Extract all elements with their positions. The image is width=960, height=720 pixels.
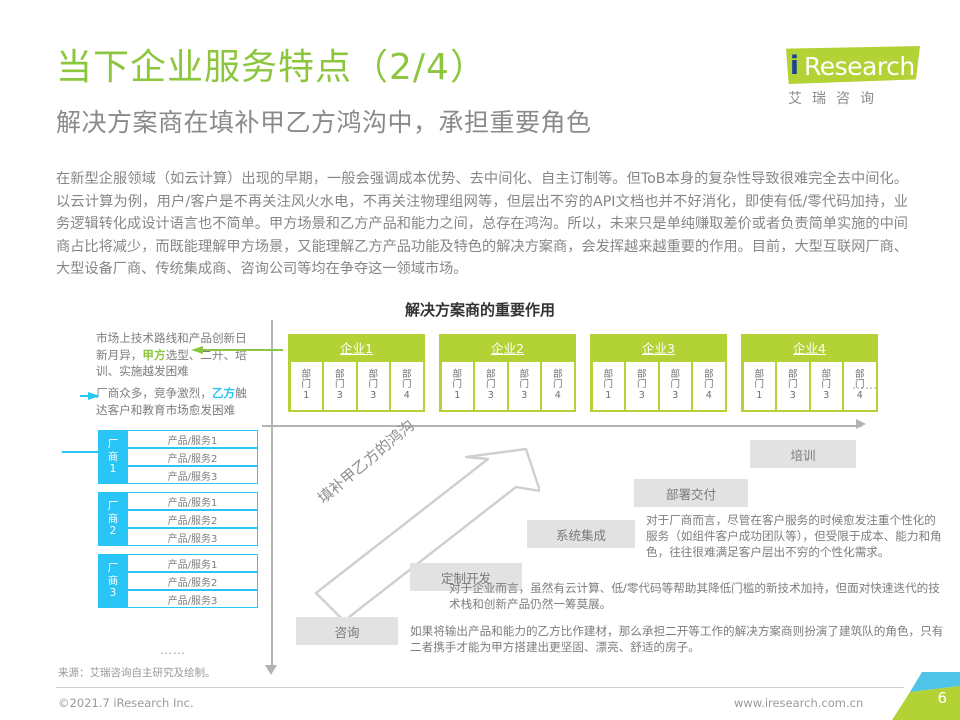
vendor-card[interactable]: 厂商3 产品/服务1 产品/服务2 产品/服务3 bbox=[98, 554, 258, 608]
vendor-items: 产品/服务1 产品/服务2 产品/服务3 bbox=[128, 554, 258, 608]
enterprise-header: 企业2 bbox=[439, 334, 576, 360]
vendor-item: 产品/服务1 bbox=[128, 554, 258, 572]
enterprise-name: 企业2 bbox=[491, 338, 524, 357]
department-cell: 部门3 bbox=[626, 362, 658, 410]
vendor-ellipsis: …… bbox=[160, 643, 186, 657]
figure-title: 解决方案商的重要作用 bbox=[0, 299, 960, 320]
enterprise-card[interactable]: 企业4 部门1 部门3 部门3 部门4 bbox=[741, 334, 878, 412]
page-number: 6 bbox=[937, 689, 947, 707]
enterprise-row: 企业1 部门1 部门3 部门3 部门4 企业2 部门1 部门3 部门3 部门4 … bbox=[288, 334, 878, 412]
website-url: www.iresearch.com.cn bbox=[734, 696, 863, 710]
corner-decoration bbox=[892, 672, 960, 720]
vendor-item: 产品/服务1 bbox=[128, 430, 258, 448]
note-supply-prefix: 厂商众多，竞争激烈， bbox=[96, 386, 212, 400]
page-title: 当下企业服务特点（2/4） bbox=[56, 47, 487, 88]
step-box-deployment-delivery[interactable]: 部署交付 bbox=[634, 479, 748, 507]
department-cell: 部门3 bbox=[475, 362, 507, 410]
explanation-vendor-side: 对于厂商而言，尽管在客户服务的时候愈发注重个性化的服务（如组件客户成功团队等），… bbox=[646, 512, 942, 561]
copyright-text: ©2021.7 iResearch Inc. bbox=[58, 696, 194, 710]
vendor-card[interactable]: 厂商1 产品/服务1 产品/服务2 产品/服务3 bbox=[98, 430, 258, 484]
note-supply-side: 厂商众多，竞争激烈，乙方触达客户和教育市场愈发困难 bbox=[96, 385, 258, 418]
department-cell: 部门4 bbox=[693, 362, 725, 410]
department-cell: 部门3 bbox=[324, 362, 356, 410]
note-supply-highlight: 乙方 bbox=[212, 386, 235, 400]
arrow-left-to-demand-note-icon bbox=[191, 346, 283, 354]
vendor-panel: 厂商1 产品/服务1 产品/服务2 产品/服务3 厂商2 产品/服务1 产品/服… bbox=[98, 430, 258, 616]
enterprise-name: 企业3 bbox=[642, 338, 675, 357]
footer-divider bbox=[56, 687, 904, 688]
vendor-item: 产品/服务3 bbox=[128, 466, 258, 484]
note-demand-side: 市场上技术路线和产品创新日新月异，甲方选型、二开、培训、实施越发困难 bbox=[96, 330, 258, 380]
enterprise-header: 企业3 bbox=[590, 334, 727, 360]
page-subtitle: 解决方案商在填补甲乙方鸿沟中，承担重要角色 bbox=[56, 108, 592, 138]
enterprise-ellipsis: …… bbox=[852, 378, 878, 392]
step-box-consulting[interactable]: 咨询 bbox=[296, 617, 398, 645]
intro-paragraph: 在新型企服领域（如云计算）出现的早期，一般会强调成本优势、去中间化、自主订制等。… bbox=[56, 168, 908, 281]
logo-i-letter: i bbox=[790, 53, 799, 79]
department-cell: 部门1 bbox=[593, 362, 625, 410]
y-axis-arrowhead-icon bbox=[265, 665, 277, 675]
enterprise-header: 企业1 bbox=[288, 334, 425, 360]
vendor-item: 产品/服务2 bbox=[128, 510, 258, 528]
vendor-item: 产品/服务2 bbox=[128, 572, 258, 590]
enterprise-name: 企业1 bbox=[340, 338, 373, 357]
enterprise-card[interactable]: 企业2 部门1 部门3 部门3 部门4 bbox=[439, 334, 576, 412]
explanation-summary: 如果将输出产品和能力的乙方比作建材，那么承担二开等工作的解决方案商则扮演了建筑队… bbox=[410, 623, 944, 655]
enterprise-departments: 部门1 部门3 部门3 部门4 bbox=[439, 360, 576, 412]
iresearch-logo: i Research 艾瑞咨询 bbox=[760, 44, 920, 106]
enterprise-card[interactable]: 企业1 部门1 部门3 部门3 部门4 bbox=[288, 334, 425, 412]
vendor-name: 厂商1 bbox=[98, 430, 128, 484]
vendor-items: 产品/服务1 产品/服务2 产品/服务3 bbox=[128, 492, 258, 546]
y-axis-line bbox=[271, 320, 273, 670]
department-cell: 部门1 bbox=[442, 362, 474, 410]
vendor-item: 产品/服务2 bbox=[128, 448, 258, 466]
vendor-items: 产品/服务1 产品/服务2 产品/服务3 bbox=[128, 430, 258, 484]
department-cell: 部门1 bbox=[744, 362, 776, 410]
vendor-item: 产品/服务1 bbox=[128, 492, 258, 510]
enterprise-departments: 部门1 部门3 部门3 部门4 bbox=[288, 360, 425, 412]
vendor-card[interactable]: 厂商2 产品/服务1 产品/服务2 产品/服务3 bbox=[98, 492, 258, 546]
explanation-enterprise-side: 对于企业而言，虽然有云计算、低/零代码等帮助其降低门槛的新技术加持，但面对快速迭… bbox=[449, 580, 943, 612]
vendor-item: 产品/服务3 bbox=[128, 528, 258, 546]
step-box-training[interactable]: 培训 bbox=[750, 440, 856, 468]
logo-chinese-name: 艾瑞咨询 bbox=[788, 88, 884, 108]
source-note: 来源：艾瑞咨询自主研究及绘制。 bbox=[58, 665, 216, 680]
vendor-connector-line bbox=[62, 451, 100, 453]
department-cell: 部门3 bbox=[660, 362, 692, 410]
department-cell: 部门3 bbox=[777, 362, 809, 410]
department-cell: 部门3 bbox=[358, 362, 390, 410]
step-box-system-integration[interactable]: 系统集成 bbox=[527, 520, 635, 548]
department-cell: 部门1 bbox=[291, 362, 323, 410]
x-axis-line bbox=[262, 425, 862, 427]
enterprise-name: 企业4 bbox=[793, 338, 826, 357]
department-cell: 部门3 bbox=[509, 362, 541, 410]
department-cell: 部门4 bbox=[542, 362, 574, 410]
enterprise-departments: 部门1 部门3 部门3 部门4 bbox=[590, 360, 727, 412]
vendor-name: 厂商3 bbox=[98, 554, 128, 608]
department-cell: 部门4 bbox=[391, 362, 423, 410]
enterprise-header: 企业4 bbox=[741, 334, 878, 360]
arrow-right-to-supply-note-icon bbox=[80, 392, 100, 400]
note-demand-highlight: 甲方 bbox=[142, 348, 165, 362]
enterprise-card[interactable]: 企业3 部门1 部门3 部门3 部门4 bbox=[590, 334, 727, 412]
department-cell: 部门3 bbox=[811, 362, 843, 410]
vendor-item: 产品/服务3 bbox=[128, 590, 258, 608]
vendor-name: 厂商2 bbox=[98, 492, 128, 546]
x-axis-arrowhead-icon bbox=[856, 419, 866, 429]
logo-wordmark: Research bbox=[804, 52, 915, 82]
